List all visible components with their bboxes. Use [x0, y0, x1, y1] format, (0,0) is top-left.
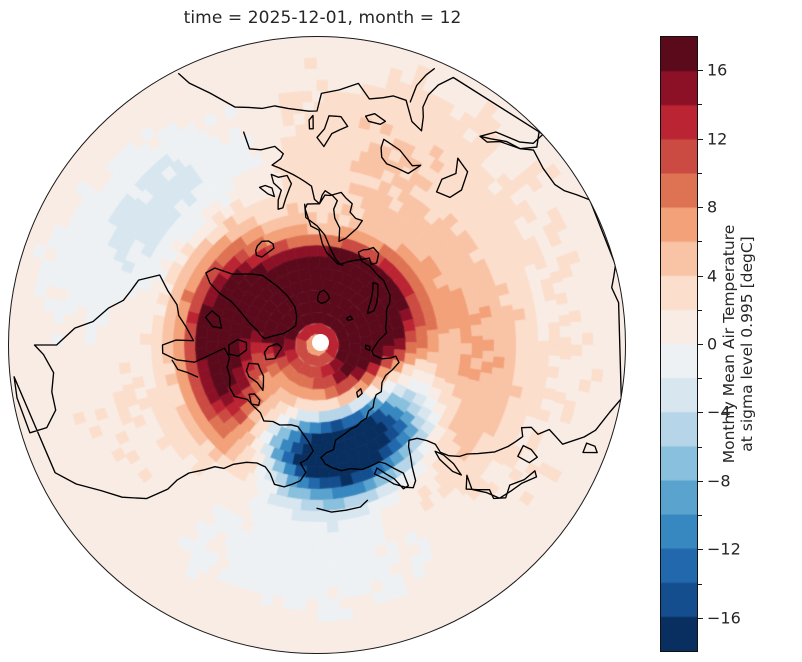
colorbar-label-line2: at sigma level 0.995 [degC] [738, 225, 756, 464]
colorbar-tick-major [698, 549, 703, 550]
colorbar-tick-major [698, 618, 703, 619]
figure-canvas: time = 2025-12-01, month = 12 1612840−4−… [0, 0, 802, 662]
colorbar-tick-label: 8 [707, 198, 717, 217]
colorbar-tick-label: −8 [707, 471, 731, 490]
colorbar-tick-minor [698, 173, 702, 174]
colorbar-tick-minor [698, 515, 702, 516]
colorbar-tick-minor [698, 104, 702, 105]
colorbar-tick-label: 0 [707, 335, 717, 354]
colorbar-tick-minor [698, 447, 702, 448]
colorbar-tick-label: −16 [707, 608, 741, 627]
colorbar[interactable]: 1612840−4−8−12−16 [660, 36, 698, 652]
colorbar-tick-label: −4 [707, 403, 731, 422]
colorbar-tick-major [698, 70, 703, 71]
polar-map[interactable] [8, 36, 626, 654]
colorbar-tick-label: 16 [707, 61, 727, 80]
colorbar-tick-minor [698, 241, 702, 242]
colorbar-tick-minor [698, 378, 702, 379]
colorbar-tick-label: 12 [707, 129, 727, 148]
north-pole-marker [312, 334, 329, 351]
colorbar-tick-major [698, 344, 703, 345]
colorbar-tick-major [698, 412, 703, 413]
colorbar-tick-minor [698, 584, 702, 585]
colorbar-tick-label: −12 [707, 540, 741, 559]
colorbar-tick-major [698, 276, 703, 277]
colorbar-tick-major [698, 139, 703, 140]
colorbar-tick-minor [698, 310, 702, 311]
colorbar-label-line1: Monthly Mean Air Temperature [720, 225, 738, 464]
colorbar-tick-label: 4 [707, 266, 717, 285]
colorbar-tick-major [698, 481, 703, 482]
colorbar-gradient [660, 36, 698, 652]
page-title: time = 2025-12-01, month = 12 [0, 8, 645, 28]
colorbar-tick-major [698, 207, 703, 208]
